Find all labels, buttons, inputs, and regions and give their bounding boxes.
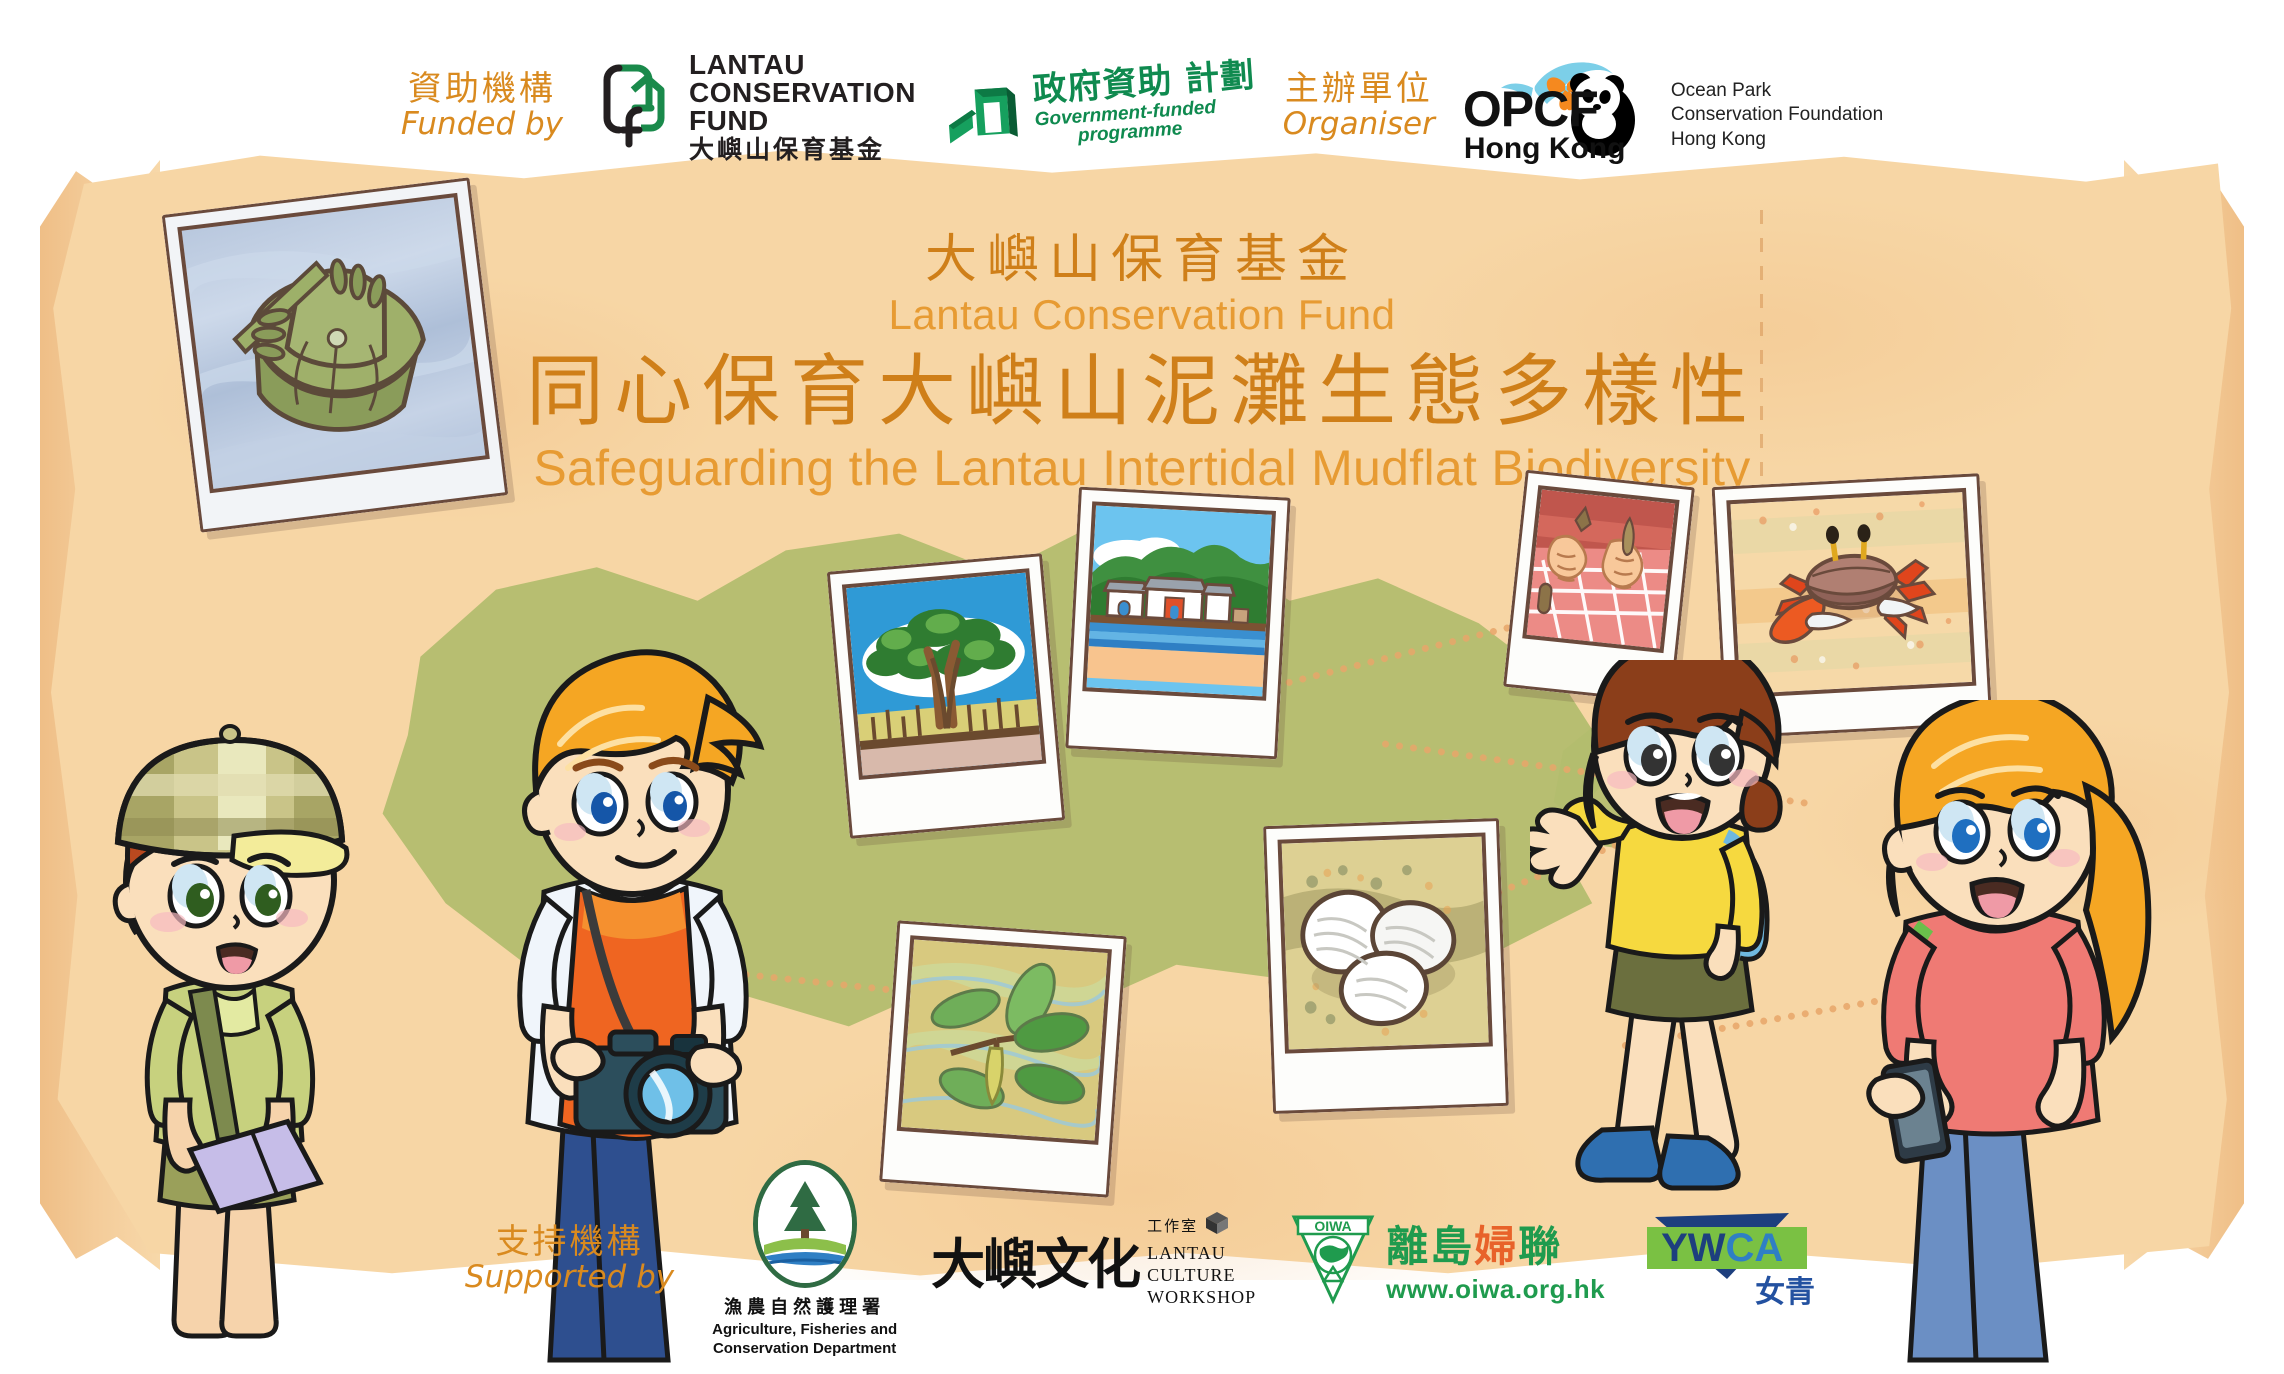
opcf-desc-3: Hong Kong (1671, 128, 1883, 152)
ywca-logo[interactable]: YWCA 女青 (1639, 1211, 1819, 1307)
government-building-icon (940, 79, 1028, 149)
polaroid-village-image (1082, 501, 1276, 700)
lcw-zh: 大嶼文化 (931, 1220, 1139, 1299)
government-funded-programme-logo[interactable]: 政府資助 計劃 Government-funded programme (940, 58, 1259, 155)
lcf-line2: CONSERVATION (689, 79, 916, 107)
lantau-culture-workshop-logo[interactable]: 大嶼文化 工作室 LANTAU CULTURE WORKSHOP (931, 1210, 1256, 1308)
polaroid-mangrove-leaves-image (897, 935, 1112, 1145)
opcf-location: Hong Kong (1464, 132, 1626, 166)
opcf-desc-2: Conservation Foundation (1671, 103, 1883, 127)
government-funded-wordmark: 政府資助 計劃 Government-funded programme (1031, 58, 1259, 148)
polaroid-mangrove-tree-image (842, 568, 1046, 780)
organiser-zh: 主辦單位 (1283, 71, 1435, 108)
ywca-acronym: YWCA (1661, 1227, 1783, 1269)
supporters-row: 支持機構 Supported by 漁農自然護理署 Agriculture, F… (0, 1160, 2284, 1358)
afcd-en-2: Conservation Department (712, 1340, 897, 1358)
polaroid-net-weaving-image (1522, 485, 1679, 653)
opcf-desc-1: Ocean Park (1671, 79, 1883, 103)
polaroid-mangrove-tree[interactable] (827, 553, 1066, 839)
organiser-label: 主辦單位 Organiser (1283, 71, 1435, 141)
organiser-en: Organiser (1283, 108, 1435, 141)
ywca-zh: 女青 (1755, 1267, 1815, 1311)
opcf-mark: OPCF Hong Kong (1461, 52, 1661, 160)
polaroid-clam-shells[interactable] (1263, 818, 1509, 1114)
polaroid-clam-shells-image (1278, 832, 1493, 1053)
afcd-en: Agriculture, Fisheries and Conservation … (712, 1321, 897, 1358)
lcf-line1: LANTAU (689, 51, 916, 79)
lantau-conservation-fund-logo[interactable]: LANTAU CONSERVATION FUND 大嶼山保育基金 (589, 51, 916, 162)
lcw-zh-small: 工作室 (1147, 1215, 1198, 1236)
lcw-en-2: CULTURE (1147, 1265, 1256, 1287)
opcf-description: Ocean Park Conservation Foundation Hong … (1671, 79, 1883, 160)
lcf-zh: 大嶼山保育基金 (689, 137, 916, 162)
lcw-en: LANTAU CULTURE WORKSHOP (1147, 1243, 1256, 1308)
oiwa-zh: 離島婦聯 (1386, 1213, 1562, 1274)
afcd-en-1: Agriculture, Fisheries and (712, 1321, 897, 1339)
supported-by-label: 支持機構 Supported by (465, 1224, 674, 1294)
afcd-logo[interactable]: 漁農自然護理署 Agriculture, Fisheries and Conse… (712, 1160, 897, 1358)
svg-text:OIWA: OIWA (1315, 1218, 1352, 1234)
funded-by-en: Funded by (401, 108, 563, 141)
afcd-zh: 漁農自然護理署 (724, 1293, 885, 1319)
scroll-crease (1760, 210, 1763, 510)
lcf-wordmark: LANTAU CONSERVATION FUND 大嶼山保育基金 (689, 51, 916, 162)
polaroid-horseshoe-crab[interactable] (162, 177, 509, 532)
polaroid-mangrove-leaves[interactable] (879, 920, 1127, 1197)
polaroid-village[interactable] (1065, 487, 1290, 760)
lcw-en-1: LANTAU (1147, 1243, 1256, 1265)
oiwa-logo[interactable]: OIWA 離島婦聯 www.oiwa.org.hk (1290, 1213, 1605, 1305)
funded-by-zh: 資助機構 (401, 71, 563, 108)
supported-by-zh: 支持機構 (465, 1224, 674, 1261)
funded-by-label: 資助機構 Funded by (401, 71, 563, 141)
polaroid-horseshoe-crab-image (177, 193, 490, 493)
lcf-mark-icon (589, 60, 675, 152)
supported-by-en: Supported by (465, 1261, 674, 1294)
opcf-hong-kong-logo[interactable]: OPCF Hong Kong Ocean Park Conservation F… (1461, 52, 1883, 160)
oiwa-url[interactable]: www.oiwa.org.hk (1386, 1274, 1605, 1305)
opcf-acronym: OPCF (1463, 80, 1598, 138)
afcd-emblem-icon (753, 1160, 857, 1288)
cube-icon (1204, 1210, 1230, 1241)
poster-canvas: 資助機構 Funded by LANTAU (0, 0, 2284, 1374)
oiwa-emblem-icon: OIWA (1290, 1213, 1376, 1305)
lcf-line3: FUND (689, 107, 916, 135)
header-logo-row: 資助機構 Funded by LANTAU (0, 46, 2284, 166)
lcw-en-3: WORKSHOP (1147, 1287, 1256, 1309)
